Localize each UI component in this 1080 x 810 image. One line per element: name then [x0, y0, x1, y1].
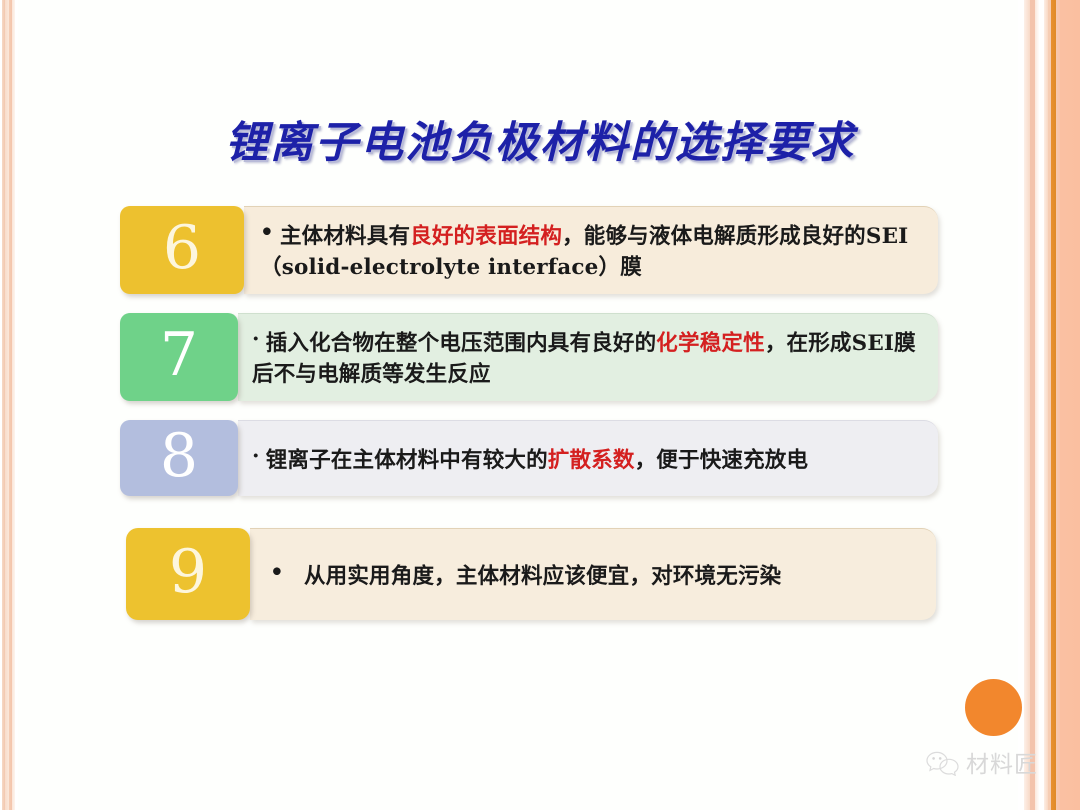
list-item: 8 ·锂离子在主体材料中有较大的扩散系数，便于快速充放电 — [120, 420, 938, 496]
item-number: 7 — [160, 325, 198, 385]
item-number-badge: 7 — [120, 313, 238, 401]
bullet-icon: · — [252, 324, 260, 355]
item-text-before: 主体材料具有 — [280, 224, 410, 249]
item-text-highlight: 扩散系数 — [548, 448, 635, 473]
wechat-bubbles-icon — [925, 750, 961, 781]
item-number-badge: 6 — [120, 206, 244, 294]
item-body: ·插入化合物在整个电压范围内具有良好的化学稳定性，在形成SEI膜后不与电解质等发… — [238, 313, 938, 401]
item-text: ·插入化合物在整个电压范围内具有良好的化学稳定性，在形成SEI膜后不与电解质等发… — [252, 324, 920, 390]
requirements-list: 6 •主体材料具有良好的表面结构，能够与液体电解质形成良好的SEI（solid-… — [0, 0, 1080, 810]
list-item: 7 ·插入化合物在整个电压范围内具有良好的化学稳定性，在形成SEI膜后不与电解质… — [120, 313, 938, 401]
item-text-before: 插入化合物在整个电压范围内具有良好的 — [266, 331, 657, 356]
item-text: •主体材料具有良好的表面结构，能够与液体电解质形成良好的SEI（solid-el… — [260, 217, 920, 283]
item-number: 8 — [160, 426, 198, 486]
item-number-badge: 8 — [120, 420, 238, 496]
item-body: •从用实用角度，主体材料应该便宜，对环境无污染 — [250, 528, 936, 620]
item-text-before: 从用实用角度，主体材料应该便宜，对环境无污染 — [304, 564, 781, 589]
slide-canvas: 锂离子电池负极材料的选择要求 6 •主体材料具有良好的表面结构，能够与液体电解质… — [0, 0, 1080, 810]
list-item: 9 •从用实用角度，主体材料应该便宜，对环境无污染 — [126, 528, 936, 620]
item-text-after: ，便于快速充放电 — [635, 448, 809, 473]
item-number: 9 — [169, 542, 207, 602]
orange-circle-decoration — [965, 679, 1022, 736]
item-text-before: 锂离子在主体材料中有较大的 — [266, 448, 548, 473]
item-text-highlight: 化学稳定性 — [656, 331, 765, 356]
list-item: 6 •主体材料具有良好的表面结构，能够与液体电解质形成良好的SEI（solid-… — [120, 206, 938, 294]
item-text: •从用实用角度，主体材料应该便宜，对环境无污染 — [270, 557, 781, 592]
item-body: •主体材料具有良好的表面结构，能够与液体电解质形成良好的SEI（solid-el… — [244, 206, 938, 294]
watermark: 材料匠 — [925, 750, 1038, 781]
item-text: ·锂离子在主体材料中有较大的扩散系数，便于快速充放电 — [252, 441, 808, 476]
bullet-icon: · — [252, 441, 260, 472]
watermark-label: 材料匠 — [966, 754, 1038, 777]
bullet-icon: • — [270, 557, 284, 588]
item-body: ·锂离子在主体材料中有较大的扩散系数，便于快速充放电 — [238, 420, 938, 496]
bullet-icon: • — [260, 217, 274, 248]
item-number-badge: 9 — [126, 528, 250, 620]
item-text-highlight: 良好的表面结构 — [410, 224, 562, 249]
item-number: 6 — [163, 218, 201, 278]
